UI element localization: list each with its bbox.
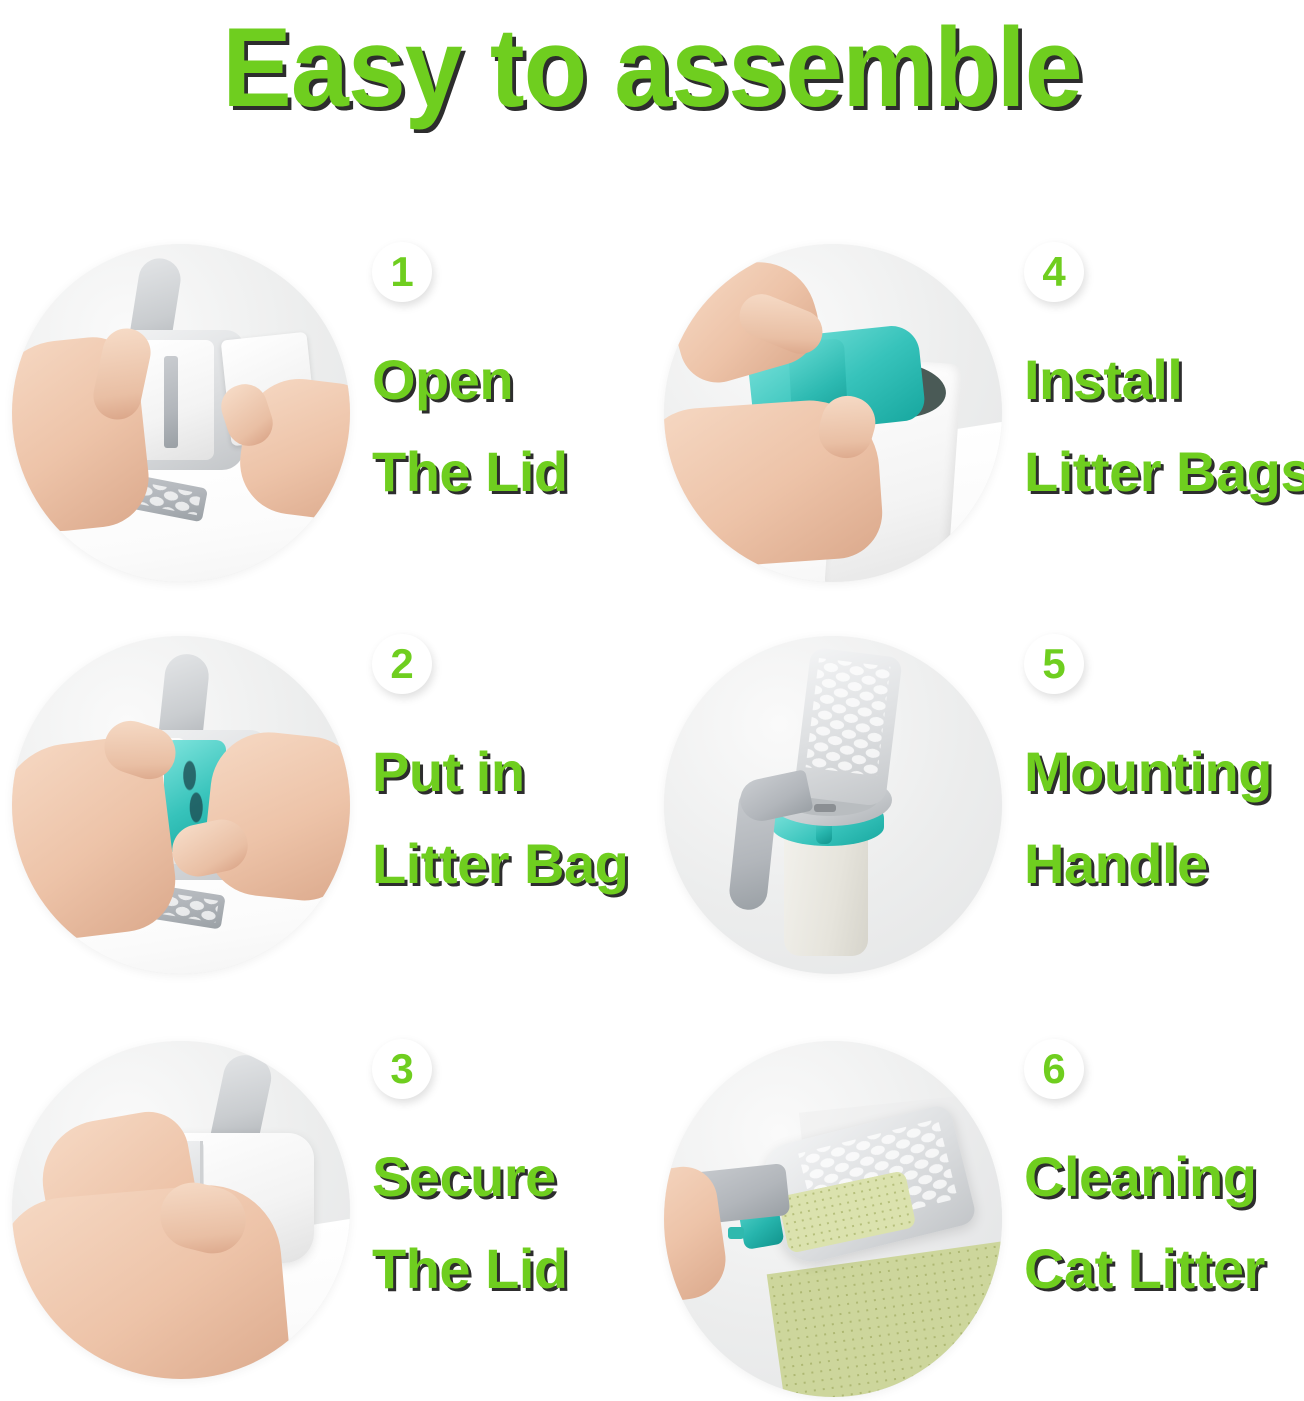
step-caption-6: Cleaning Cat Litter	[1024, 1131, 1265, 1315]
scoop-slots	[806, 658, 891, 776]
step-number-badge-3: 3	[372, 1039, 432, 1099]
step-caption-2: Put in Litter Bag	[372, 726, 628, 910]
step-caption-line1: Secure	[372, 1145, 556, 1208]
step-caption-line2: Litter Bag	[372, 818, 628, 910]
step-caption-line1: Install	[1024, 348, 1182, 411]
assembly-steps-grid: 1 Open The Lid 4 Ins	[0, 228, 1304, 1401]
step-label-4: 4 Install Litter Bags	[1024, 242, 1304, 518]
step-caption-3: Secure The Lid	[372, 1131, 568, 1315]
step-card-3: 3 Secure The Lid	[0, 1025, 652, 1401]
step-number-badge-4: 4	[1024, 242, 1084, 302]
step-caption-5: Mounting Handle	[1024, 726, 1272, 910]
step-label-3: 3 Secure The Lid	[372, 1039, 568, 1315]
step-caption-line1: Cleaning	[1024, 1145, 1256, 1208]
step-photo-5	[664, 636, 1002, 974]
page-title: Easy to assemble	[46, 6, 1259, 130]
latch-clip	[728, 1227, 744, 1239]
step-card-2: 2 Put in Litter Bag	[0, 620, 652, 1025]
step-caption-line1: Open	[372, 348, 513, 411]
step-label-2: 2 Put in Litter Bag	[372, 634, 628, 910]
step-photo-6	[664, 1041, 1002, 1397]
step-number-badge-1: 1	[372, 242, 432, 302]
step-card-6: 6 Cleaning Cat Litter	[652, 1025, 1304, 1401]
step-caption-line2: Cat Litter	[1024, 1223, 1265, 1315]
step-label-6: 6 Cleaning Cat Litter	[1024, 1039, 1265, 1315]
cutting-blade	[164, 356, 178, 448]
step-caption-line2: The Lid	[372, 1223, 568, 1315]
step-card-1: 1 Open The Lid	[0, 228, 652, 620]
step-caption-4: Install Litter Bags	[1024, 334, 1304, 518]
right-hand	[200, 727, 350, 906]
step-number-badge-2: 2	[372, 634, 432, 694]
step-label-5: 5 Mounting Handle	[1024, 634, 1272, 910]
step-number-badge-5: 5	[1024, 634, 1084, 694]
step-caption-1: Open The Lid	[372, 334, 568, 518]
step-photo-4	[664, 244, 1002, 582]
step-photo-3	[12, 1041, 350, 1379]
step-caption-line2: The Lid	[372, 426, 568, 518]
step-card-4: 4 Install Litter Bags	[652, 228, 1304, 620]
step-caption-line1: Put in	[372, 740, 525, 803]
latch-clip	[814, 804, 836, 812]
step-caption-line2: Litter Bags	[1024, 426, 1304, 518]
right-hand	[12, 1179, 292, 1379]
step-label-1: 1 Open The Lid	[372, 242, 568, 518]
step-photo-1	[12, 244, 350, 582]
step-card-5: 5 Mounting Handle	[652, 620, 1304, 1025]
step-photo-2	[12, 636, 350, 974]
step-caption-line2: Handle	[1024, 818, 1272, 910]
step-number-badge-6: 6	[1024, 1039, 1084, 1099]
step-caption-line1: Mounting	[1024, 740, 1272, 803]
